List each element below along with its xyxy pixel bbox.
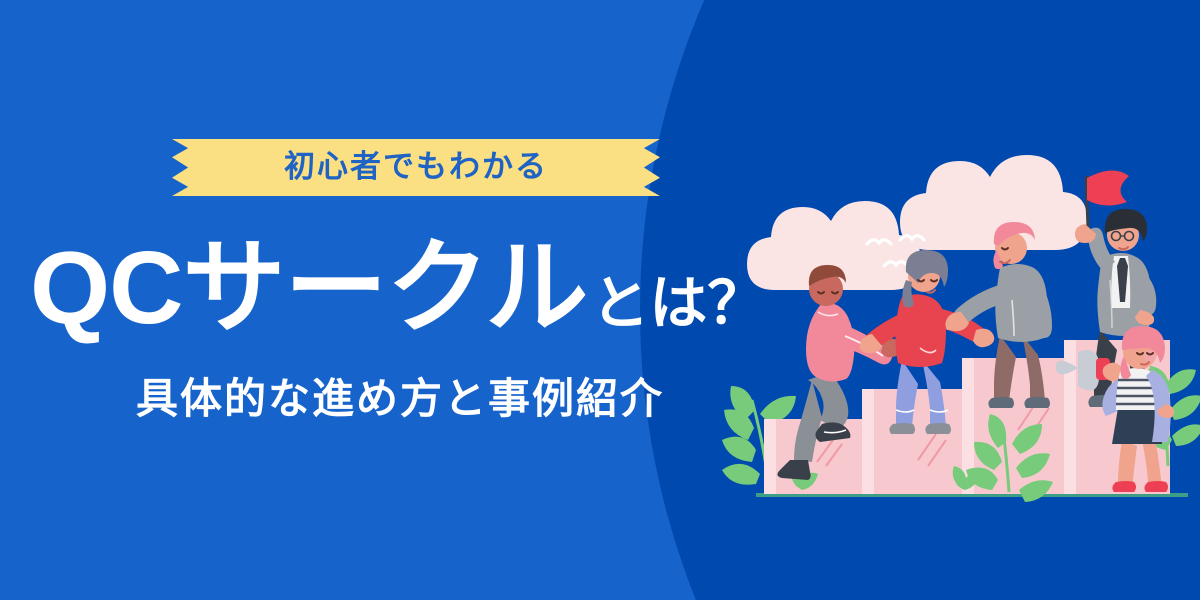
page-title-suffix: とは？ xyxy=(591,275,765,333)
page-subtitle: 具体的な進め方と事例紹介 xyxy=(136,378,664,420)
page-title-main: QCサークル xyxy=(30,236,587,339)
qc-circle-hero-banner: 初心者でもわかる QCサークル とは？ 具体的な進め方と事例紹介 xyxy=(0,0,1200,600)
cloud-right xyxy=(900,155,1087,250)
eyebrow-ribbon: 初心者でもわかる xyxy=(172,139,660,196)
eyebrow-label: 初心者でもわかる xyxy=(172,139,660,196)
page-title: QCサークル とは？ xyxy=(30,236,765,339)
